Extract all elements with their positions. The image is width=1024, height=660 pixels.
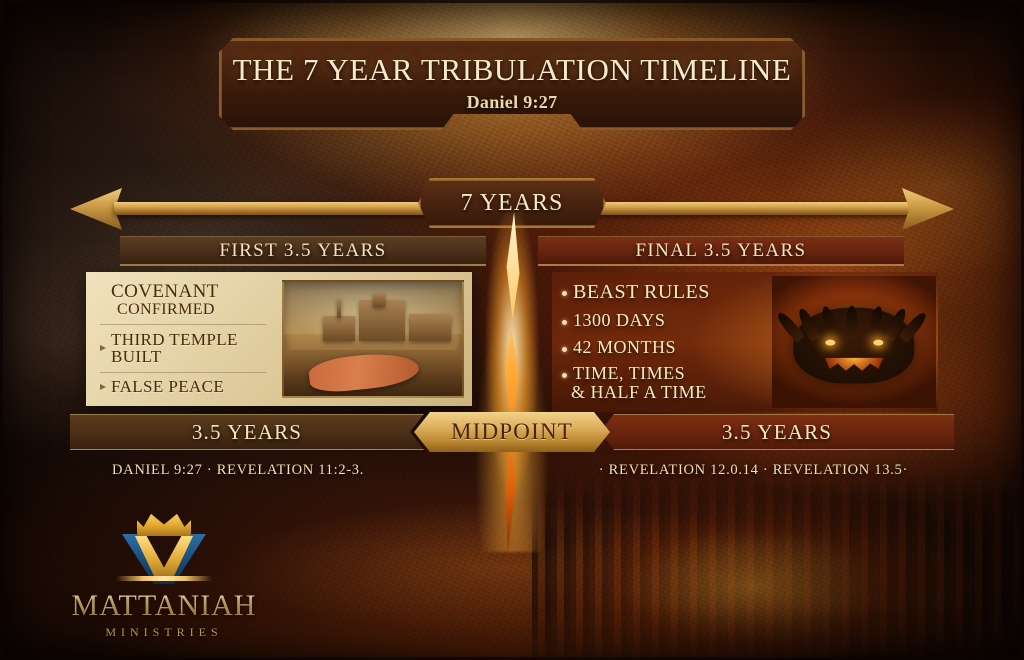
third-temple-handshake-image bbox=[282, 280, 464, 398]
list-item: 42 MONTHS bbox=[562, 338, 768, 357]
beast-eye bbox=[825, 340, 835, 346]
final-half-label: FINAL 3.5 YEARS bbox=[635, 240, 806, 262]
midpoint-bar: 3.5 YEARS 3.5 YEARS MIDPOINT bbox=[70, 414, 954, 450]
right-duration-label: 3.5 YEARS bbox=[722, 420, 832, 445]
divider bbox=[100, 372, 266, 373]
tribulation-timeline-infographic: THE 7 YEAR TRIBULATION TIMELINE Daniel 9… bbox=[0, 0, 1024, 660]
first-half-label: FIRST 3.5 YEARS bbox=[219, 240, 386, 262]
ministry-logo: MATTANIAH MINISTRIES bbox=[56, 512, 272, 640]
crown-icon bbox=[137, 512, 191, 536]
left-duration-bar: 3.5 YEARS bbox=[70, 414, 424, 450]
list-item-line2: CONFIRMED bbox=[117, 302, 219, 319]
final-half-header: FINAL 3.5 YEARS bbox=[538, 236, 904, 266]
seven-years-plaque: 7 YEARS bbox=[418, 178, 606, 228]
horn-icon bbox=[866, 305, 884, 341]
seven-years-label: 7 YEARS bbox=[461, 190, 564, 217]
logo-monogram bbox=[112, 512, 216, 583]
first-half-references: DANIEL 9:27 · REVELATION 11:2-3. bbox=[112, 462, 364, 479]
list-item: FALSE PEACE bbox=[100, 378, 276, 396]
bullet-icon bbox=[562, 347, 567, 352]
list-item: 1300 DAYS bbox=[562, 311, 768, 330]
first-half-header: FIRST 3.5 YEARS bbox=[120, 236, 486, 266]
scripture-references: DANIEL 9:27 · REVELATION 11:2-3. · REVEL… bbox=[70, 462, 954, 490]
list-item-label: TIME, TIMES & HALF A TIME bbox=[573, 364, 707, 402]
list-item: COVENANT CONFIRMED bbox=[100, 282, 276, 318]
temple-crane bbox=[337, 298, 341, 319]
bullet-icon bbox=[100, 345, 106, 351]
list-item-label: FALSE PEACE bbox=[111, 378, 224, 396]
beast-image bbox=[772, 276, 936, 408]
temple-tower bbox=[373, 293, 385, 307]
title-scripture: Daniel 9:27 bbox=[467, 92, 558, 113]
list-item-label: THIRD TEMPLE BUILT bbox=[111, 331, 276, 366]
beast-head bbox=[793, 307, 914, 384]
first-half-panel: COVENANT CONFIRMED THIRD TEMPLE BUILT FA… bbox=[86, 272, 472, 406]
left-duration-label: 3.5 YEARS bbox=[192, 420, 302, 445]
logo-base-bar bbox=[116, 576, 212, 581]
divider bbox=[100, 324, 266, 325]
arrow-right-icon bbox=[902, 188, 954, 230]
midpoint-plaque: MIDPOINT bbox=[414, 412, 610, 452]
final-half-references: · REVELATION 12.0.14 · REVELATION 13.5· bbox=[599, 462, 908, 479]
final-half-panel: BEAST RULES 1300 DAYS 42 MONTHS TIME, TI… bbox=[552, 272, 938, 412]
horn-icon bbox=[847, 306, 858, 340]
horn-icon bbox=[820, 305, 838, 341]
beast-eye bbox=[873, 340, 883, 346]
beast-maw bbox=[825, 358, 883, 376]
list-item-label: BEAST RULES bbox=[573, 282, 710, 303]
temple-side-block bbox=[323, 316, 355, 341]
midpoint-label: MIDPOINT bbox=[451, 419, 573, 445]
logo-tagline: MINISTRIES bbox=[105, 625, 222, 640]
logo-name: MATTANIAH bbox=[72, 589, 257, 623]
list-item-line1: COVENANT bbox=[111, 281, 219, 302]
list-item-label: 42 MONTHS bbox=[573, 338, 676, 357]
bullet-icon bbox=[562, 291, 567, 296]
list-item: THIRD TEMPLE BUILT bbox=[100, 331, 276, 366]
list-item-line2: & HALF A TIME bbox=[571, 383, 707, 402]
temple-wall bbox=[409, 314, 452, 341]
list-item-label: COVENANT CONFIRMED bbox=[111, 282, 219, 318]
first-half-list: COVENANT CONFIRMED THIRD TEMPLE BUILT FA… bbox=[86, 272, 282, 406]
bullet-icon bbox=[100, 384, 106, 390]
list-item: BEAST RULES bbox=[562, 282, 768, 303]
bullet-icon bbox=[562, 373, 567, 378]
list-item-line1: TIME, TIMES bbox=[573, 363, 685, 383]
right-duration-bar: 3.5 YEARS bbox=[600, 414, 954, 450]
list-item-label: 1300 DAYS bbox=[573, 311, 665, 330]
final-half-list: BEAST RULES 1300 DAYS 42 MONTHS TIME, TI… bbox=[552, 272, 772, 412]
list-item: TIME, TIMES & HALF A TIME bbox=[562, 364, 768, 402]
page-title: THE 7 YEAR TRIBULATION TIMELINE bbox=[233, 52, 792, 88]
bullet-icon bbox=[562, 320, 567, 325]
